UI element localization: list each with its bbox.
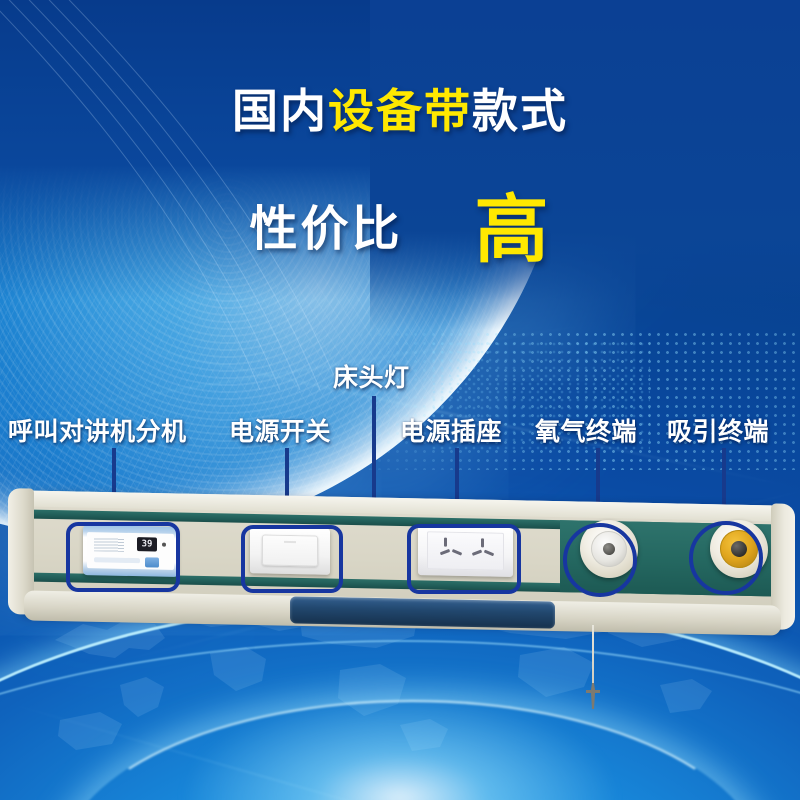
highlight-ring-suction [689,521,763,595]
headline: 国内设备带款式 [0,88,800,134]
pull-cord-handle-icon[interactable] [583,683,603,709]
highlight-box-power-socket [407,524,521,594]
highlight-box-power-switch [241,525,343,593]
subheadline-white: 性价比 [249,203,402,256]
callout-label-oxygen: 氧气终端 [535,412,637,448]
subheadline: 性价比高 [0,170,800,277]
callout-label-suction: 吸引终端 [667,412,769,448]
callout-label-power-socket: 电源插座 [400,412,502,448]
pull-cord-string [592,625,594,689]
highlight-box-intercom [66,522,180,592]
callout-label-power-switch: 电源开关 [229,412,331,448]
bed-lamp-diffuser[interactable] [290,596,555,628]
headline-highlight: 设备带 [328,85,472,137]
headline-part3: 款式 [472,85,568,137]
headline-part1: 国内 [232,85,328,137]
promo-banner: 国内设备带款式 性价比高 呼叫对讲机分机 电源开关 床头灯 电源插座 氧气终端 … [0,0,800,800]
highlight-ring-oxygen [563,523,637,597]
callout-label-bed-lamp: 床头灯 [333,358,410,394]
subheadline-yellow: 高 [475,188,551,271]
callout-label-intercom: 呼叫对讲机分机 [8,412,187,448]
